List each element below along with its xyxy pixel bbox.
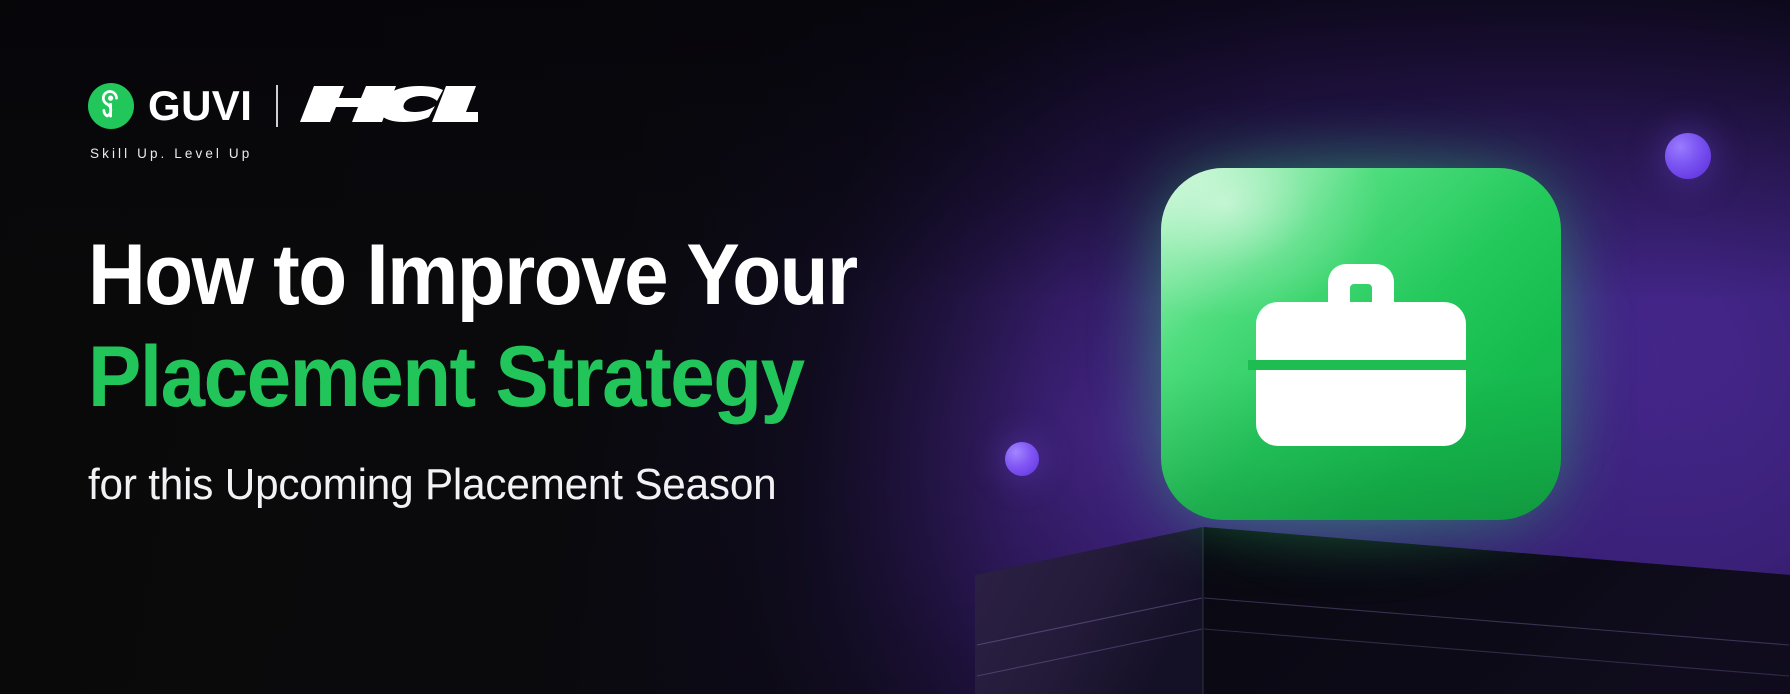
promo-banner: GUVI Skill Up. Level Up How to Impr [0, 0, 1790, 694]
guvi-wordmark: GUVI [148, 85, 252, 127]
logo-divider [276, 85, 278, 127]
headline-block: How to Improve Your Placement Strategy f… [88, 232, 1088, 510]
guvi-tagline: Skill Up. Level Up [90, 146, 478, 161]
headline-line-1: How to Improve Your [88, 232, 1018, 318]
logo-lockup: GUVI Skill Up. Level Up [88, 80, 478, 161]
logo-row: GUVI [88, 80, 478, 132]
hcl-wordmark [300, 82, 478, 131]
headline-subline: for this Upcoming Placement Season [88, 460, 1048, 510]
headline-line-2: Placement Strategy [88, 334, 1018, 420]
guvi-logomark-icon [88, 83, 134, 129]
